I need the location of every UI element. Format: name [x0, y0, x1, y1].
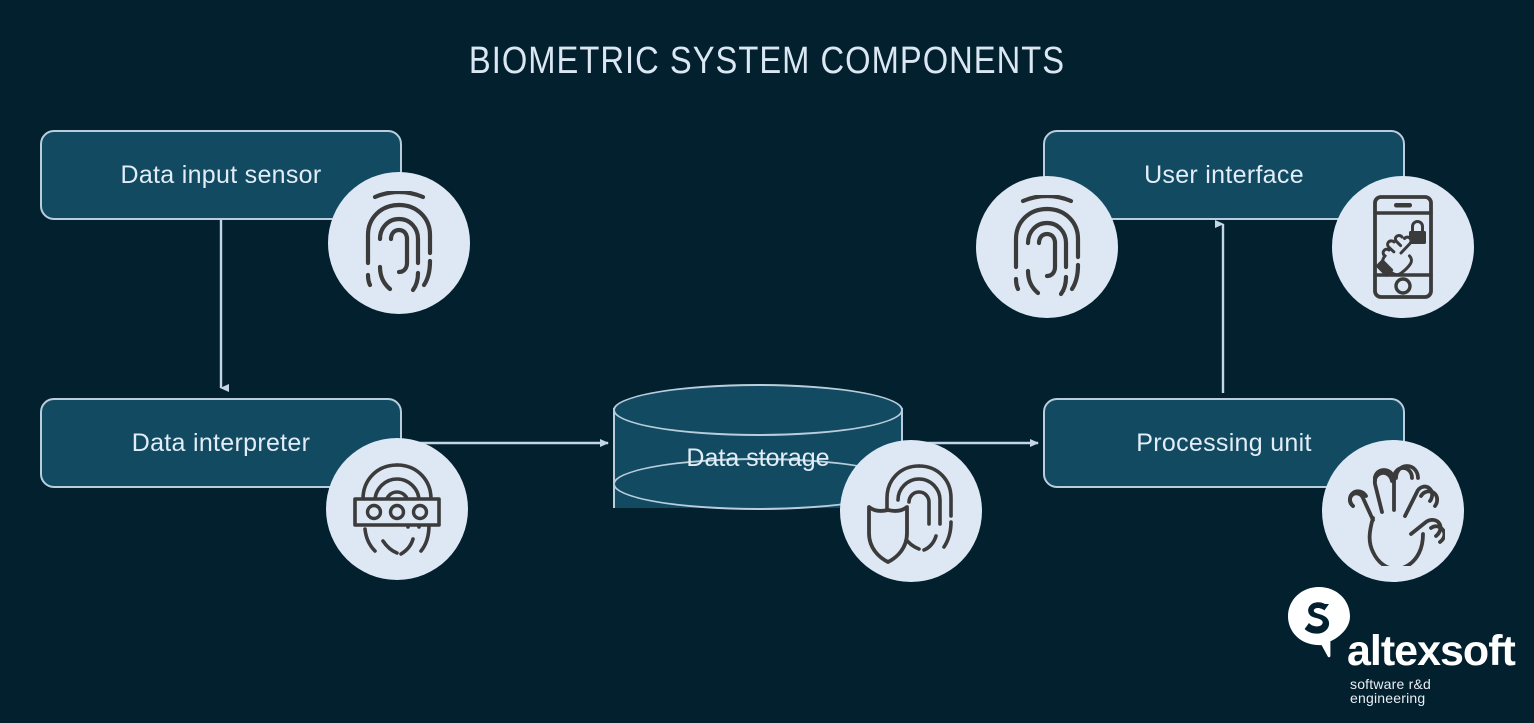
fingerprint-scanner-icon: [326, 438, 468, 580]
page-title: BIOMETRIC SYSTEM COMPONENTS: [107, 40, 1426, 83]
altexsoft-wordmark: altexsoft: [1347, 630, 1515, 673]
node-label-processing-unit: Processing unit: [1136, 429, 1311, 458]
altexsoft-logo-mark: [1285, 586, 1353, 658]
phone-lock-touch-icon: [1332, 176, 1474, 318]
node-label-data-interpreter: Data interpreter: [132, 429, 311, 458]
altexsoft-logo: altexsoft software r&d engineering: [1285, 586, 1505, 698]
fingerprint-icon: [328, 172, 470, 314]
fingerprint-shield-icon: [840, 440, 982, 582]
handprint-icon: [1322, 440, 1464, 582]
fingerprint-icon: [976, 176, 1118, 318]
diagram-canvas: BIOMETRIC SYSTEM COMPONENTS: [0, 0, 1534, 723]
altexsoft-tagline: software r&d engineering: [1350, 677, 1505, 705]
node-label-user-interface: User interface: [1144, 161, 1304, 190]
node-label-data-input-sensor: Data input sensor: [120, 161, 321, 190]
